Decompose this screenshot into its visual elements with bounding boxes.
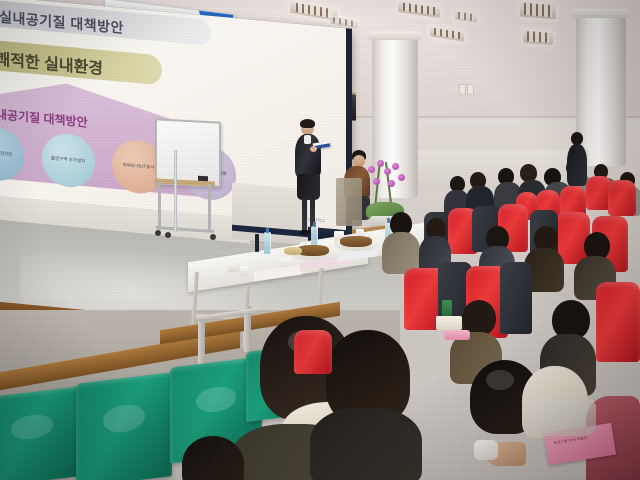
- presenter: [292, 120, 326, 238]
- standing-attendee-torso: [567, 144, 587, 186]
- presenter-shirt-collar: [304, 135, 311, 144]
- hair-highlight: [486, 370, 514, 390]
- auditorium-seat-back[interactable]: [500, 262, 532, 334]
- whiteboard-leg: [208, 184, 211, 232]
- standing-attendee: [566, 132, 588, 186]
- orchid-bloom: [368, 166, 375, 173]
- audience-member: [380, 212, 420, 270]
- slide-oval-2-label: 흡연구역 추가설치: [51, 156, 85, 166]
- orchid-bloom: [388, 180, 395, 187]
- plastic-bag: [530, 398, 596, 436]
- whiteboard-eraser: [198, 176, 208, 182]
- auditorium-seat[interactable]: [596, 282, 640, 362]
- foreground-attendee-left: [316, 330, 436, 480]
- foreground-torso: [310, 408, 422, 480]
- orchid-bloom: [377, 160, 384, 167]
- ceiling-light-fixture: [523, 29, 553, 45]
- presenter-hand: [310, 146, 317, 152]
- presenter-hair: [300, 119, 315, 128]
- screen-stand-caster: [165, 232, 171, 238]
- orchid-bloom: [384, 168, 391, 175]
- audience-snack: [444, 330, 470, 340]
- foreground-seat[interactable]: [0, 386, 80, 480]
- whiteboard-caster: [210, 234, 216, 240]
- auditorium-seat[interactable]: [294, 330, 332, 374]
- slide-oval-1-label: 오염원 사전차단: [0, 149, 12, 159]
- tissue: [474, 440, 498, 460]
- foreground-head: [182, 436, 244, 480]
- audience-snack: [436, 316, 462, 330]
- wall-outlet: [467, 84, 474, 95]
- presenter-shoe: [300, 230, 309, 235]
- dark-bottle: [255, 234, 259, 252]
- screen-stand-pole: [174, 150, 177, 232]
- table-napkin-holder: [228, 261, 240, 273]
- audience-glasses: [460, 318, 476, 325]
- presenter-skirt: [297, 174, 320, 200]
- paper-cup: [239, 266, 248, 277]
- food-item: [340, 236, 372, 247]
- foreground-attendee-lower: [172, 430, 282, 480]
- auditorium-seat[interactable]: [608, 180, 636, 216]
- whiteboard-surface: [155, 118, 221, 187]
- wall-outlet: [459, 84, 466, 95]
- audience-snack: [442, 300, 452, 316]
- orchid-bloom: [373, 178, 380, 185]
- ceiling-light-fixture: [520, 1, 556, 20]
- water-bottle: [264, 232, 271, 254]
- whiteboard-leg: [158, 182, 161, 230]
- auditorium-photo: 발표회 표회 한경대학교 환경공학과 실내공기질 대책방안 쾌적한 실내환경 실…: [0, 0, 640, 480]
- whiteboard-caster: [155, 230, 161, 236]
- foreground-seat[interactable]: [76, 372, 172, 480]
- food-item-light: [284, 247, 302, 255]
- slide-oval-3-label: BAKE-OUT실시: [123, 162, 154, 172]
- presenter-leg: [302, 198, 307, 232]
